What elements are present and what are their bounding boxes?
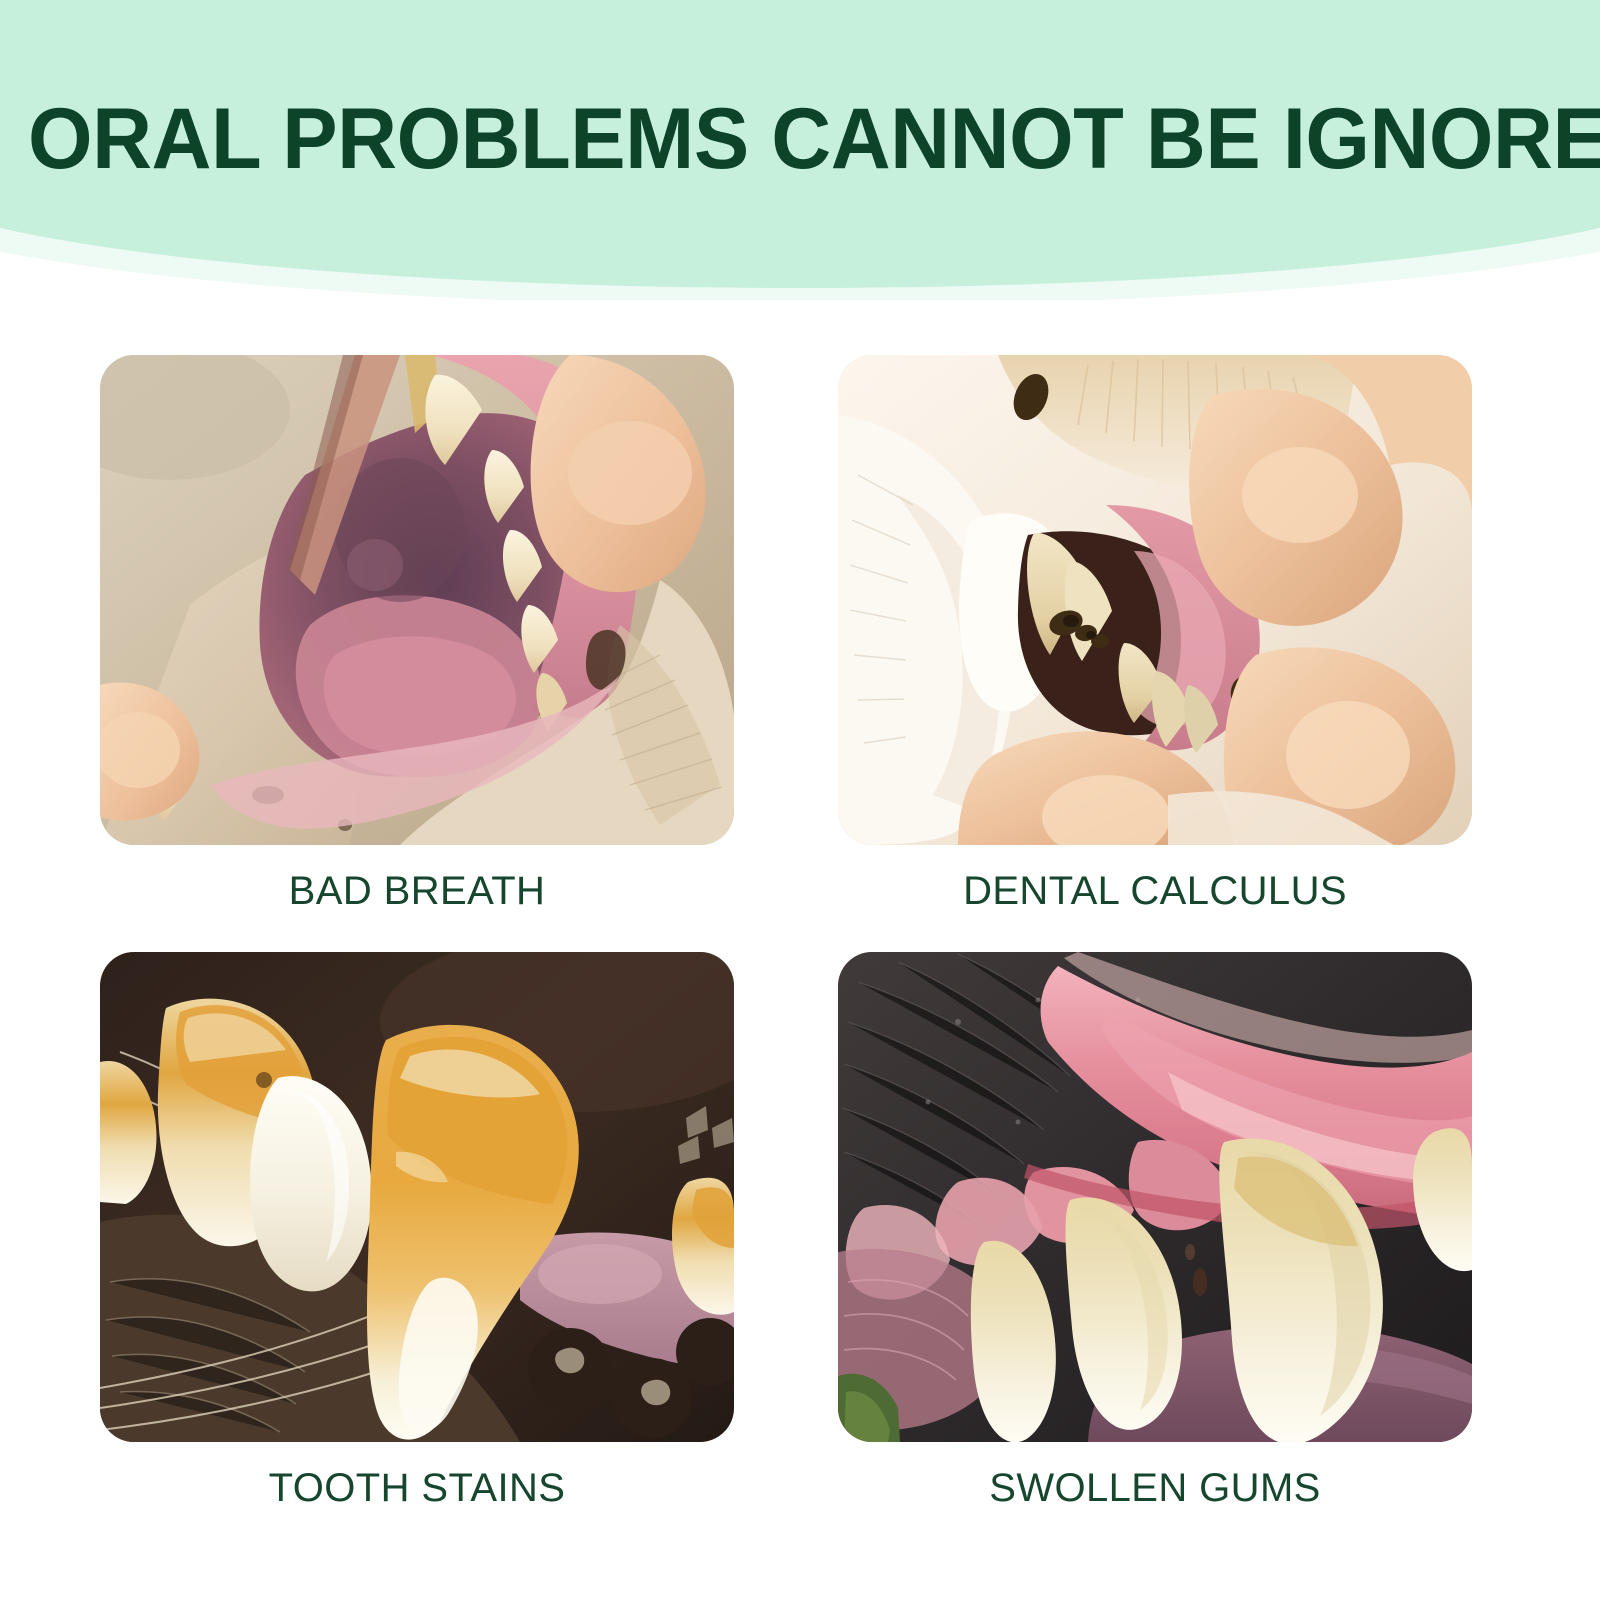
- tooth-stains-illustration: [100, 952, 734, 1442]
- bad-breath-illustration: [100, 355, 734, 845]
- problem-grid: BAD BREATH: [100, 355, 1472, 1526]
- caption-tooth-stains: TOOTH STAINS: [100, 1464, 734, 1526]
- dog-open-mouth-bad-breath-photo: [100, 355, 734, 845]
- caption-swollen-gums: SWOLLEN GUMS: [838, 1464, 1472, 1526]
- caption-bad-breath: BAD BREATH: [100, 867, 734, 929]
- dog-teeth-dental-calculus-photo: [838, 355, 1472, 845]
- dental-calculus-illustration: [838, 355, 1472, 845]
- caption-dental-calculus: DENTAL CALCULUS: [838, 867, 1472, 929]
- grid-cell-tooth-stains: TOOTH STAINS: [100, 952, 734, 1526]
- swollen-gums-illustration: [838, 952, 1472, 1442]
- page-title: ORAL PROBLEMS CANNOT BE IGNORED: [28, 96, 1572, 182]
- grid-cell-swollen-gums: SWOLLEN GUMS: [838, 952, 1472, 1526]
- dog-teeth-stains-photo: [100, 952, 734, 1442]
- grid-cell-dental-calculus: DENTAL CALCULUS: [838, 355, 1472, 929]
- dog-swollen-gums-photo: [838, 952, 1472, 1442]
- grid-cell-bad-breath: BAD BREATH: [100, 355, 734, 929]
